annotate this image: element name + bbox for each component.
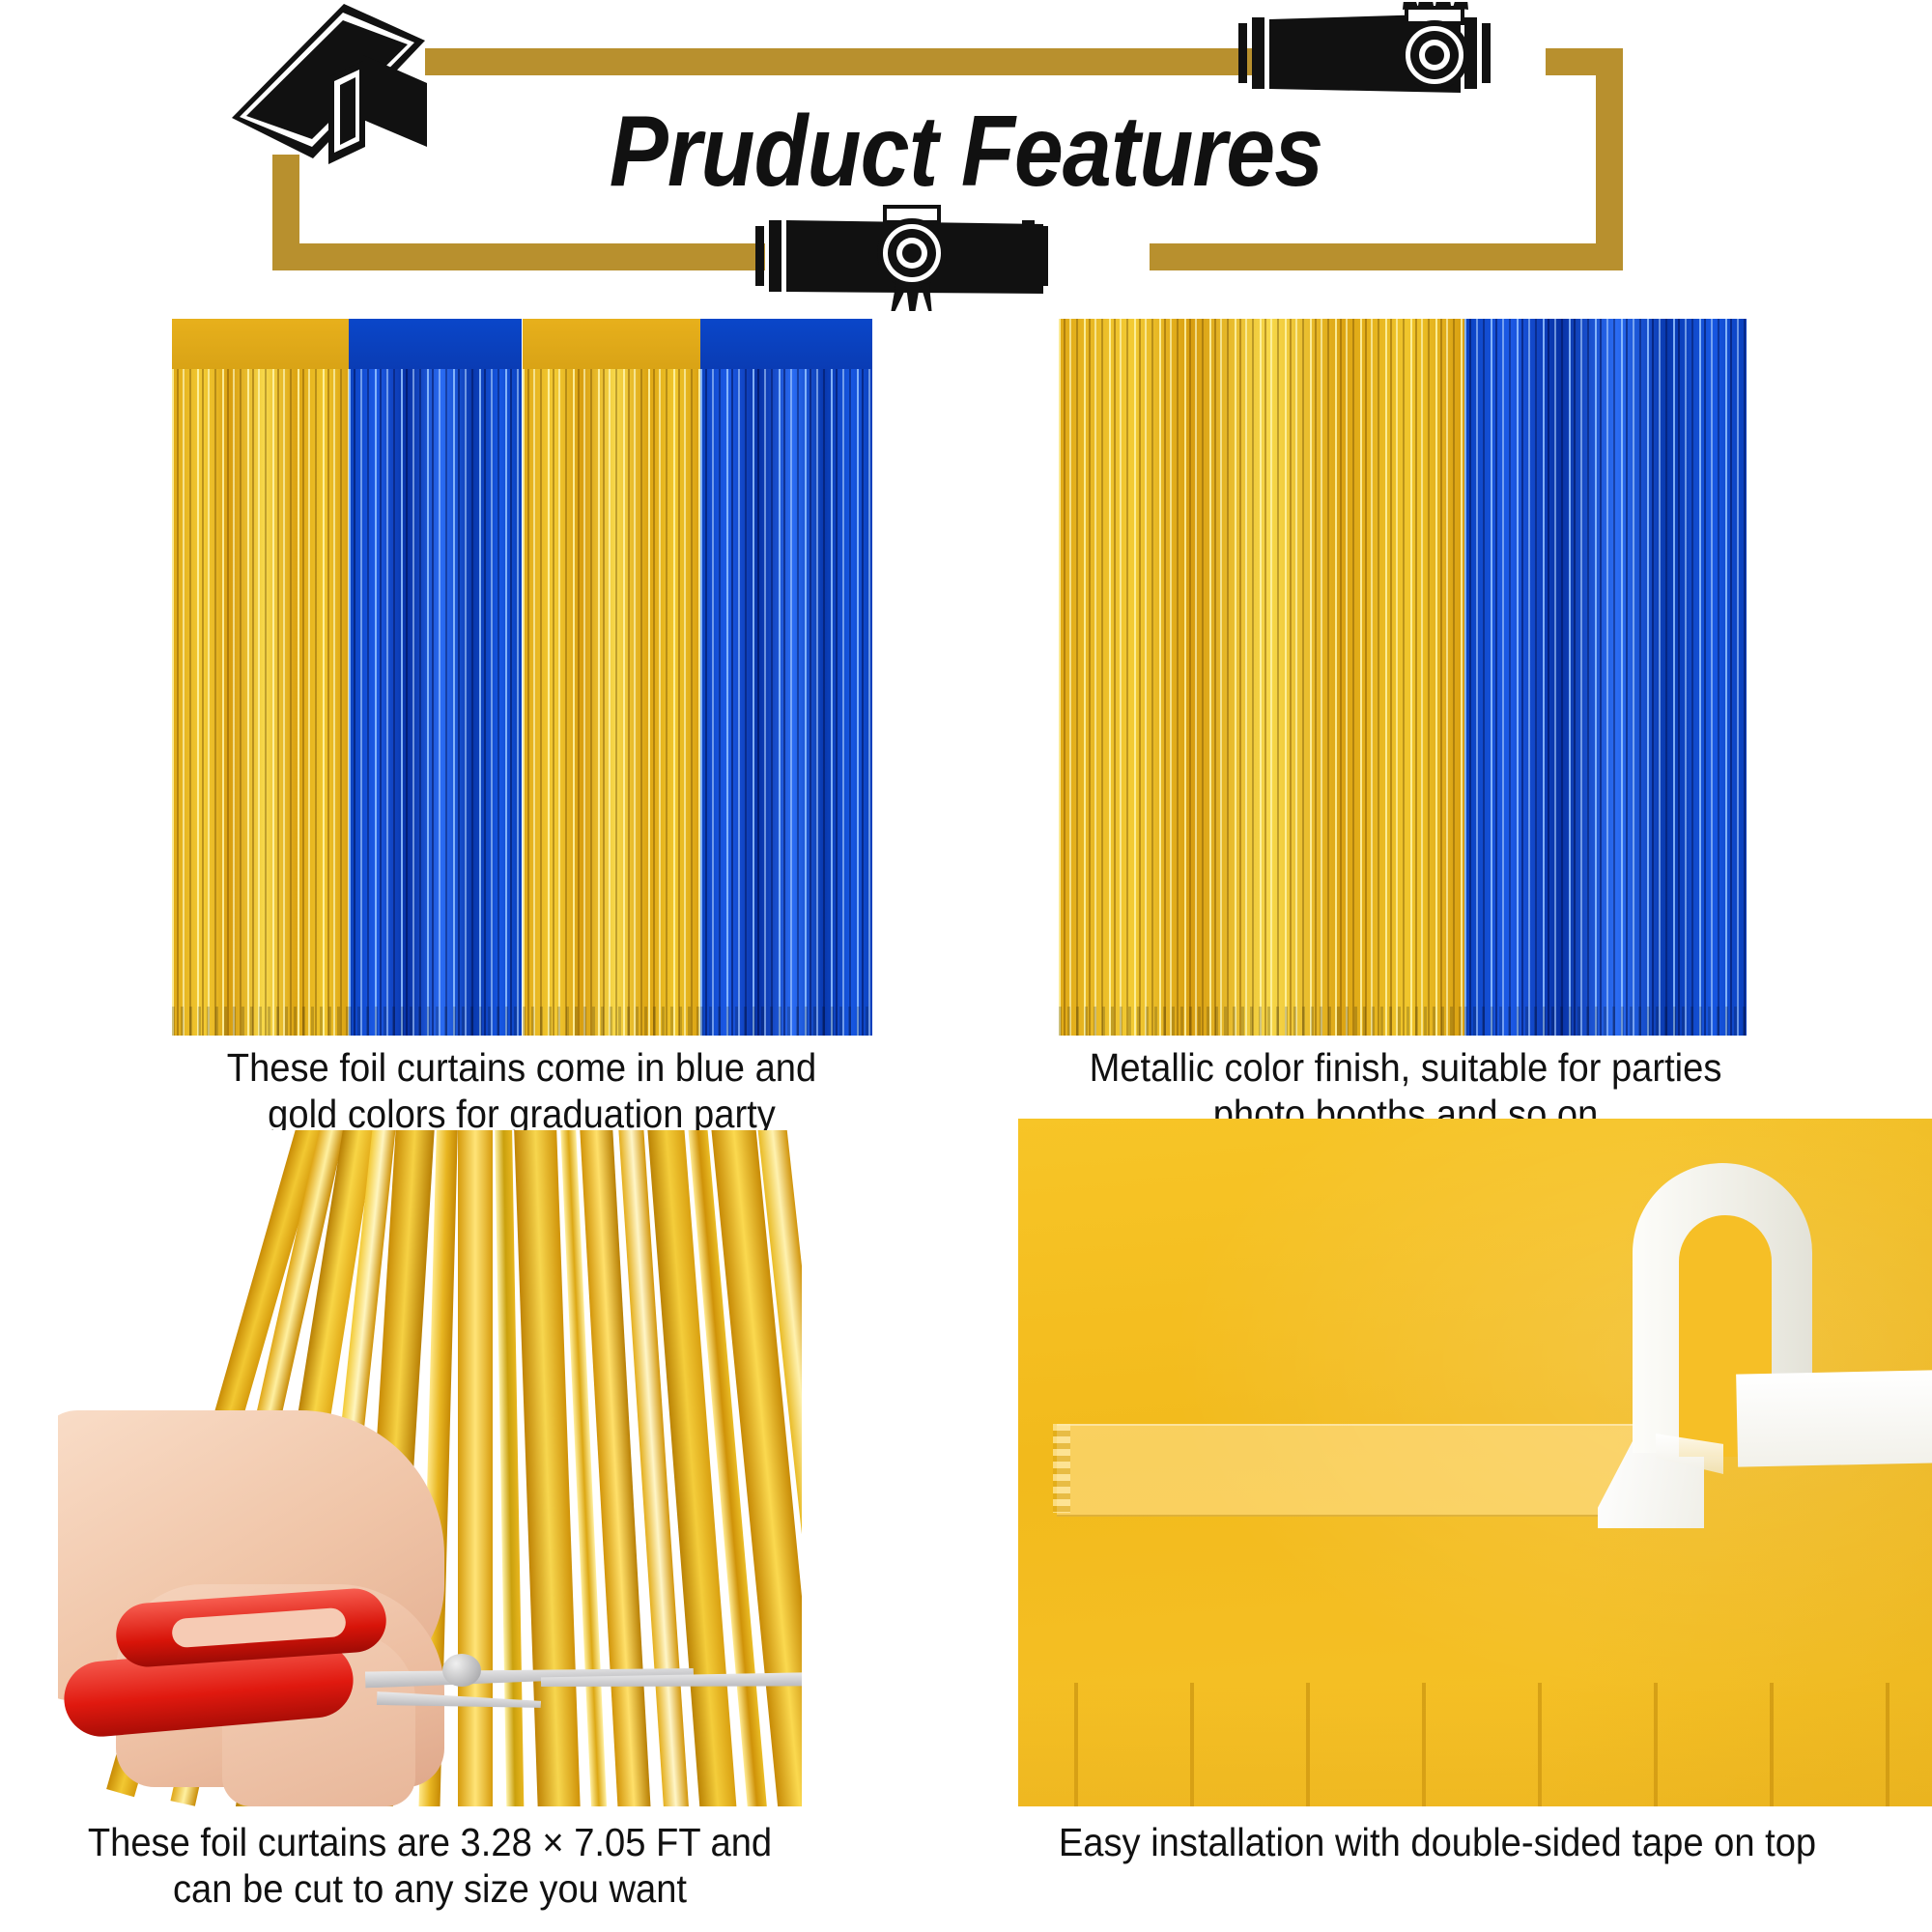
metallic-foil-curtain-closeup-photo — [1059, 319, 1747, 1036]
header-banner: Pruduct Features — [0, 0, 1932, 290]
double-sided-tape-on-gold-foil-photo — [1018, 1119, 1932, 1806]
caption-line-2: gold colors for graduation party — [268, 1092, 776, 1136]
caption-line-1: Metallic color finish, suitable for part… — [1090, 1045, 1722, 1090]
caption-line-1: These foil curtains are 3.28 × 7.05 FT a… — [88, 1820, 772, 1864]
feature-caption-installation: Easy installation with double-sided tape… — [1007, 1820, 1869, 1866]
frame-bottom-left-bar — [272, 243, 765, 270]
foil-curtain-blue-gold-panels-photo — [172, 319, 872, 1036]
double-sided-tape-strip — [1057, 1424, 1636, 1517]
frame-top-bar — [425, 48, 1254, 75]
feature-caption-size: These foil curtains are 3.28 × 7.05 FT a… — [66, 1820, 793, 1912]
caption-line-1: These foil curtains come in blue and — [227, 1045, 816, 1090]
caption-line-2: can be cut to any size you want — [173, 1866, 687, 1911]
feature-caption-colors: These foil curtains come in blue andgold… — [144, 1045, 898, 1137]
page-title: Pruduct Features — [116, 95, 1816, 210]
diploma-scroll-icon — [1236, 2, 1555, 108]
diploma-scroll-icon — [753, 205, 1072, 311]
caption-line-1: Easy installation with double-sided tape… — [1059, 1820, 1816, 1864]
scissors-cutting-gold-foil-photo — [58, 1130, 802, 1806]
frame-bottom-right-bar — [1150, 243, 1623, 270]
